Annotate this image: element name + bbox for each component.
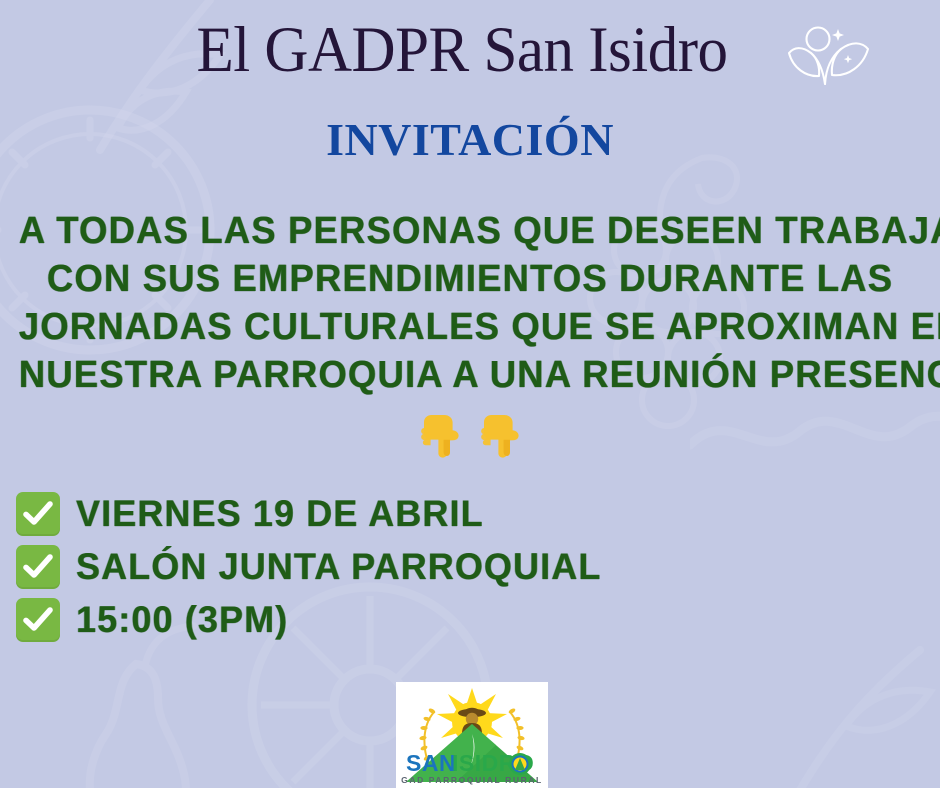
check-mark-icon	[16, 598, 60, 642]
check-mark-icon	[16, 545, 60, 589]
watermark-corner-leaf	[780, 600, 940, 788]
logo-secondary-text: GAD PARROQUIAL RURAL	[401, 775, 543, 785]
list-item-label: SALÓN JUNTA PARROQUIAL	[76, 547, 601, 587]
check-mark-icon	[16, 492, 60, 536]
logo-primary-text: SAN	[406, 750, 456, 776]
list-item: SALÓN JUNTA PARROQUIAL	[16, 541, 716, 592]
pointing-hands-row	[0, 408, 940, 470]
body-line: JORNADAS CULTURALES QUE SE APROXIMAN EN	[19, 303, 921, 351]
body-line: A TODAS LAS PERSONAS QUE DESEEN TRABAJAR	[19, 207, 921, 255]
invitation-heading: INVITACIÓN	[0, 117, 940, 163]
point-down-icon	[477, 408, 523, 460]
invitation-body: A TODAS LAS PERSONAS QUE DESEEN TRABAJAR…	[0, 207, 940, 399]
san-isidro-logo: SAN ISIDRO GAD PARROQUIAL RURAL	[396, 682, 548, 788]
list-item: 15:00 (3PM)	[16, 594, 716, 645]
list-item: VIERNES 19 DE ABRIL	[16, 488, 716, 539]
body-line: NUESTRA PARROQUIA A UNA REUNIÓN PRESENCI…	[19, 351, 921, 399]
sprout-leaf-icon	[786, 22, 872, 94]
page-title: El GADPR San Isidro	[196, 18, 727, 83]
point-down-icon	[417, 408, 463, 460]
list-item-label: 15:00 (3PM)	[76, 600, 288, 640]
event-details-list: VIERNES 19 DE ABRIL SALÓN JUNTA PARROQUI…	[16, 488, 716, 647]
body-line: CON SUS EMPRENDIMIENTOS DURANTE LAS	[19, 255, 921, 303]
invitation-poster: El GADPR San Isidro INVITACIÓN A TODAS L…	[0, 0, 940, 788]
list-item-label: VIERNES 19 DE ABRIL	[76, 494, 484, 534]
